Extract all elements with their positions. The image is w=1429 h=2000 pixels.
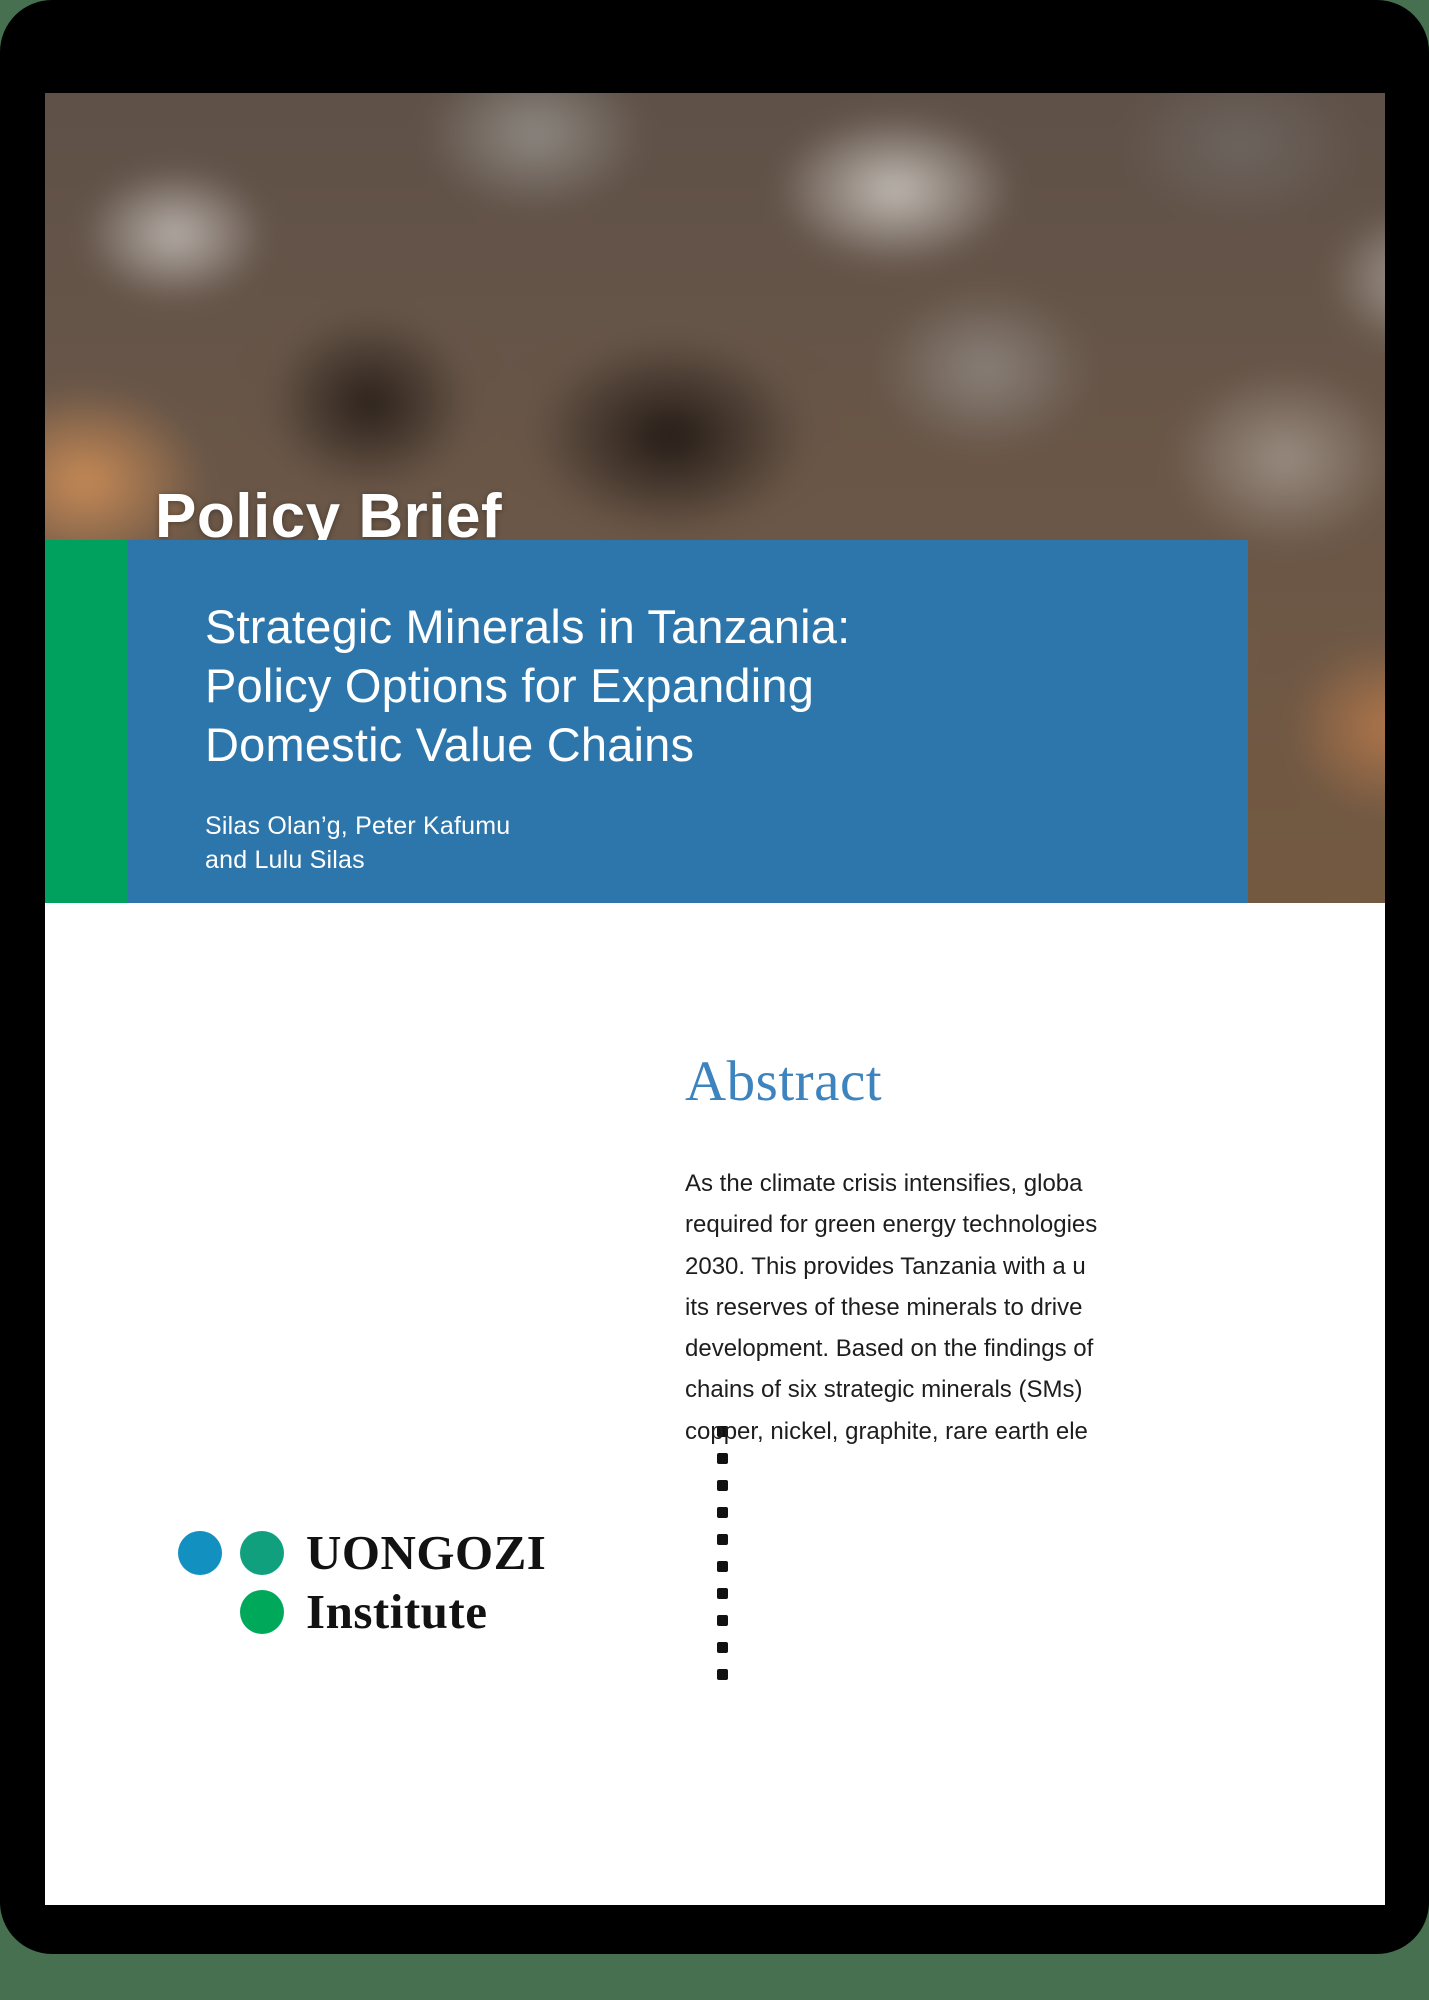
abstract-heading: Abstract [685, 1053, 1385, 1110]
logo-green-circle-icon [240, 1590, 284, 1634]
logo-teal-circle-icon [240, 1531, 284, 1575]
abstract-line: development. Based on the findings of [685, 1328, 1385, 1369]
uongozi-institute-logo: UONGOZI Institute [178, 1528, 598, 1636]
masthead-title: Policy Brief [155, 486, 855, 548]
dotted-column-divider [717, 1426, 729, 1681]
screenshot-viewport: Policy Brief No. 3, 2025 Strategic Miner… [0, 0, 1429, 2000]
title-accent-bar [45, 540, 128, 903]
divider-dot [717, 1561, 728, 1572]
logo-row-bottom: Institute [178, 1587, 598, 1636]
divider-dot [717, 1453, 728, 1464]
title-band-body: Strategic Minerals in Tanzania: Policy O… [128, 540, 1248, 903]
divider-dot [717, 1642, 728, 1653]
divider-dot [717, 1669, 728, 1680]
divider-dot [717, 1507, 728, 1518]
abstract-line: As the climate crisis intensifies, globa [685, 1163, 1385, 1204]
document-page: Policy Brief No. 3, 2025 Strategic Miner… [45, 93, 1385, 1905]
title-band: Strategic Minerals in Tanzania: Policy O… [45, 540, 1248, 903]
page-title: Strategic Minerals in Tanzania: Policy O… [205, 597, 1208, 775]
page-title-line: Policy Options for Expanding [205, 659, 814, 712]
abstract-line: required for green energy technologies [685, 1204, 1385, 1245]
logo-wordmark-uongozi: UONGOZI [306, 1528, 546, 1577]
divider-dot [717, 1588, 728, 1599]
abstract-section: Abstract As the climate crisis intensifi… [685, 1053, 1385, 1452]
author-list: Silas Olan’g, Peter Kafumu and Lulu Sila… [205, 809, 1208, 878]
divider-dot [717, 1615, 728, 1626]
content-area: UONGOZI Institute [45, 903, 1385, 1905]
abstract-line: chains of six strategic minerals (SMs) [685, 1369, 1385, 1410]
page-title-line: Strategic Minerals in Tanzania: [205, 600, 850, 653]
divider-dot [717, 1480, 728, 1491]
divider-dot [717, 1534, 728, 1545]
author-line: Silas Olan’g, Peter Kafumu [205, 812, 510, 840]
logo-blue-circle-icon [178, 1531, 222, 1575]
logo-wordmark-institute: Institute [306, 1587, 487, 1636]
logo-row-top: UONGOZI [178, 1528, 598, 1577]
abstract-line: 2030. This provides Tanzania with a u [685, 1246, 1385, 1287]
abstract-body: As the climate crisis intensifies, globa… [685, 1163, 1385, 1452]
abstract-line: its reserves of these minerals to drive [685, 1287, 1385, 1328]
page-title-line: Domestic Value Chains [205, 718, 694, 771]
author-line: and Lulu Silas [205, 846, 365, 874]
abstract-line: copper, nickel, graphite, rare earth ele [685, 1411, 1385, 1452]
